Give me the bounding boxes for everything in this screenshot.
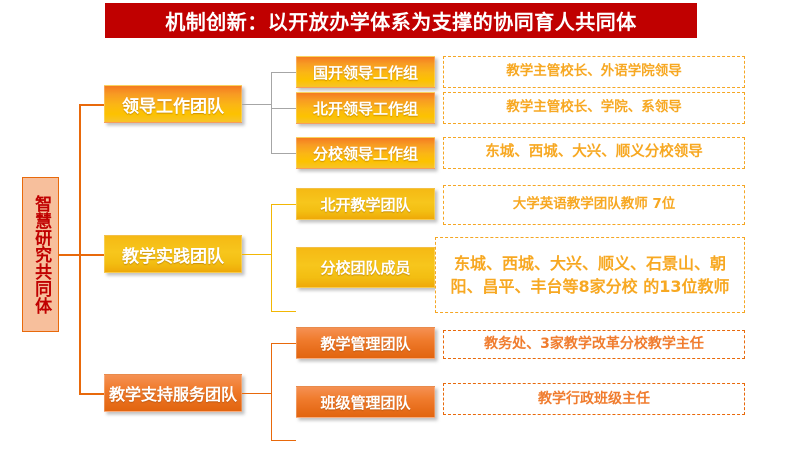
connector-root-to-leadership [79,104,104,106]
detail-box-teaching-management-text: 教务处、3家教学改革分校教学主任 [484,334,704,354]
detail-box-beikai-leadership: 教学主管校长、学院、系领导 [443,92,745,124]
connector-practice-spine [271,204,272,312]
page-title: 机制创新：以开放办学体系为支撑的协同育人共同体 [105,3,697,38]
connector-root-to-practice [79,254,104,256]
connector-support-stem [242,393,272,394]
connector-leadership-to-child-1 [271,108,296,109]
branch-node-teaching-practice-label: 教学实践团队 [122,242,224,267]
child-node-beikai-leadership-label: 北开领导工作组 [313,98,418,119]
connector-support-spine [271,343,272,441]
connector-leadership-to-child-0 [271,72,296,73]
connector-practice-to-child-1 [271,311,296,312]
page-title-text: 机制创新：以开放办学体系为支撑的协同育人共同体 [165,6,637,35]
detail-box-beikai-leadership-text: 教学主管校长、学院、系领导 [506,98,682,118]
detail-box-beikai-teaching: 大学英语教学团队教师 7位 [443,185,745,225]
detail-box-branch-members: 东城、西城、大兴、顺义、石景山、朝阳、昌平、丰台等8家分校 的13位教师 [435,237,745,313]
detail-box-branch-leadership-text: 东城、西城、大兴、顺义分校领导 [485,142,703,163]
detail-box-class-management-text: 教学行政班级主任 [538,389,650,409]
branch-node-teaching-practice[interactable]: 教学实践团队 [104,235,242,273]
detail-box-guokai-leadership-text: 教学主管校长、外语学院领导 [506,62,682,82]
connector-root-spine [79,104,81,394]
child-node-branch-members[interactable]: 分校团队成员 [296,247,435,288]
child-node-guokai-leadership[interactable]: 国开领导工作组 [296,56,435,88]
child-node-beikai-teaching[interactable]: 北开教学团队 [296,188,435,220]
branch-node-leadership-label: 领导工作团队 [122,92,224,117]
child-node-beikai-teaching-label: 北开教学团队 [320,194,410,215]
detail-box-guokai-leadership: 教学主管校长、外语学院领导 [443,56,745,88]
child-node-beikai-leadership[interactable]: 北开领导工作组 [296,92,435,124]
connector-support-to-child-0 [271,343,296,344]
connector-practice-to-child-0 [271,204,296,205]
child-node-class-management-label: 班级管理团队 [320,392,410,413]
child-node-class-management[interactable]: 班级管理团队 [296,386,435,418]
branch-node-support-service-label: 教学支持服务团队 [109,381,237,405]
child-node-teaching-management[interactable]: 教学管理团队 [296,327,435,359]
child-node-teaching-management-label: 教学管理团队 [320,333,410,354]
connector-support-to-child-1 [271,440,296,441]
detail-box-teaching-management: 教务处、3家教学改革分校教学主任 [443,330,745,359]
detail-box-beikai-teaching-text: 大学英语教学团队教师 7位 [513,195,676,215]
root-node[interactable]: 智慧研究共同体 [22,177,59,332]
connector-leadership-stem [242,104,272,105]
child-node-branch-members-label: 分校团队成员 [320,257,410,278]
connector-root-stem [59,254,81,256]
child-node-branch-leadership[interactable]: 分校领导工作组 [296,137,435,169]
child-node-branch-leadership-label: 分校领导工作组 [313,143,418,164]
branch-node-leadership[interactable]: 领导工作团队 [104,85,242,123]
connector-leadership-to-child-2 [271,153,296,154]
detail-box-class-management: 教学行政班级主任 [443,383,745,415]
child-node-guokai-leadership-label: 国开领导工作组 [313,62,418,83]
detail-box-branch-members-text: 东城、西城、大兴、顺义、石景山、朝阳、昌平、丰台等8家分校 的13位教师 [444,252,736,298]
root-node-label: 智慧研究共同体 [32,195,49,314]
diagram-canvas: 机制创新：以开放办学体系为支撑的协同育人共同体 智慧研究共同体 领导工作团队 国… [0,0,800,450]
connector-leadership-spine [271,72,272,154]
connector-practice-stem [242,254,272,255]
detail-box-branch-leadership: 东城、西城、大兴、顺义分校领导 [443,137,745,169]
branch-node-support-service[interactable]: 教学支持服务团队 [104,374,242,412]
connector-root-to-support [79,393,104,395]
